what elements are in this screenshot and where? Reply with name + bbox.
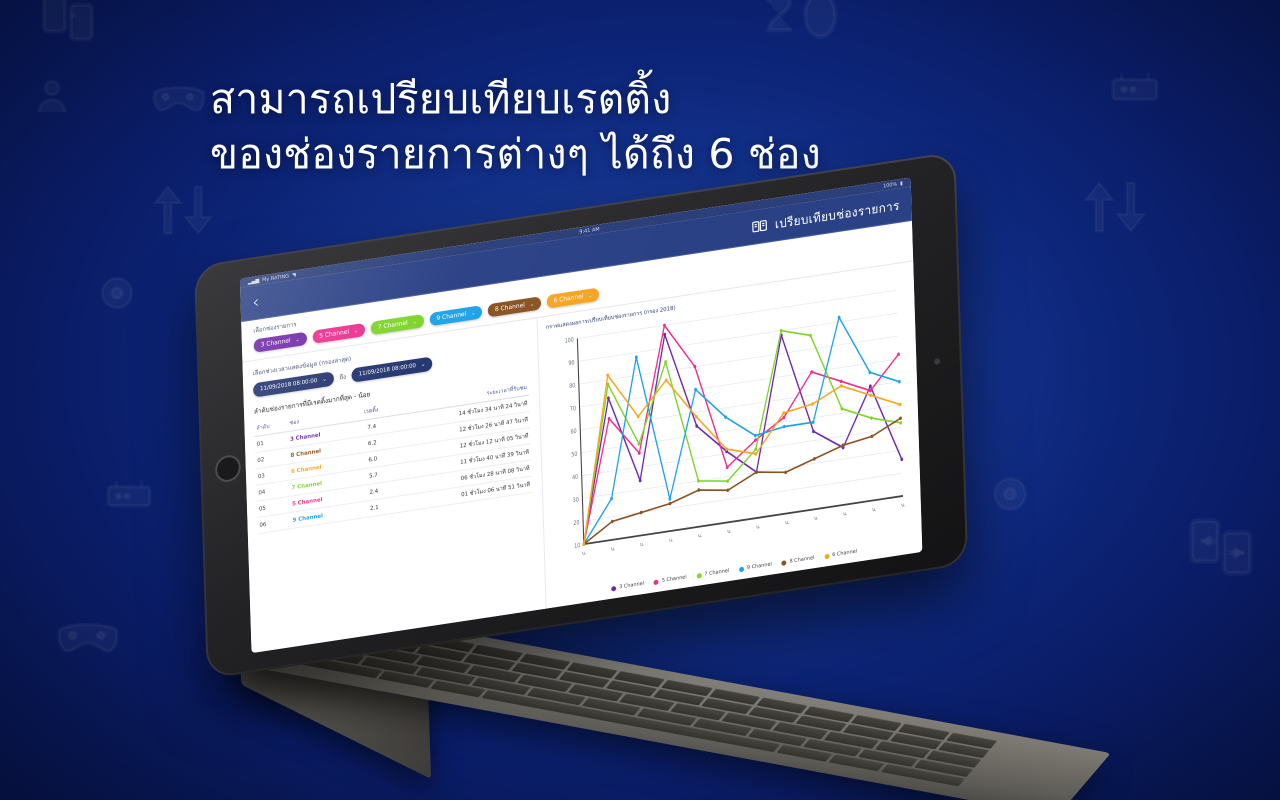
page-title: สามารถเปรียบเทียบเรตติ้ง ของช่องรายการต่…: [210, 72, 970, 182]
headline-line-2: ของช่องรายการต่างๆ ได้ถึง 6 ช่อง: [210, 127, 970, 182]
headline-line-1: สามารถเปรียบเทียบเรตติ้ง: [210, 75, 671, 123]
